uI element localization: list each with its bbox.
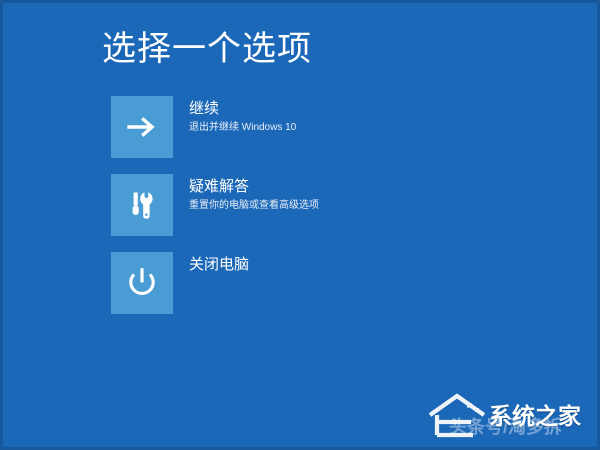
house-logo-icon (427, 391, 497, 439)
option-turn-off-pc-text: 关闭电脑 (173, 252, 531, 275)
option-troubleshoot-text: 疑难解答 重置你的电脑或查看高级选项 (173, 174, 531, 213)
option-turn-off-pc[interactable]: 关闭电脑 (111, 252, 531, 314)
option-continue-tile (111, 96, 173, 158)
option-turn-off-pc-title: 关闭电脑 (189, 255, 531, 275)
arrow-right-icon (125, 110, 159, 144)
watermark: 系统之家 头条号/淘多拆 (427, 387, 593, 443)
option-troubleshoot[interactable]: 疑难解答 重置你的电脑或查看高级选项 (111, 174, 531, 236)
option-continue-text: 继续 退出并继续 Windows 10 (173, 96, 531, 135)
recovery-options-screen: 选择一个选项 继续 退出并继续 Windows 10 (0, 0, 600, 450)
option-turn-off-pc-tile (111, 252, 173, 314)
option-troubleshoot-tile (111, 174, 173, 236)
watermark-sub: 头条号/淘多拆 (449, 417, 562, 437)
power-icon (124, 265, 160, 301)
watermark-brand: 系统之家 (489, 403, 581, 429)
option-continue-title: 继续 (189, 99, 531, 119)
options-list: 继续 退出并继续 Windows 10 (111, 96, 531, 330)
option-troubleshoot-title: 疑难解答 (189, 177, 531, 197)
option-troubleshoot-subtitle: 重置你的电脑或查看高级选项 (189, 198, 531, 213)
screwdriver-wrench-icon (125, 188, 159, 222)
option-continue[interactable]: 继续 退出并继续 Windows 10 (111, 96, 531, 158)
option-continue-subtitle: 退出并继续 Windows 10 (189, 120, 531, 135)
page-title: 选择一个选项 (102, 27, 312, 71)
